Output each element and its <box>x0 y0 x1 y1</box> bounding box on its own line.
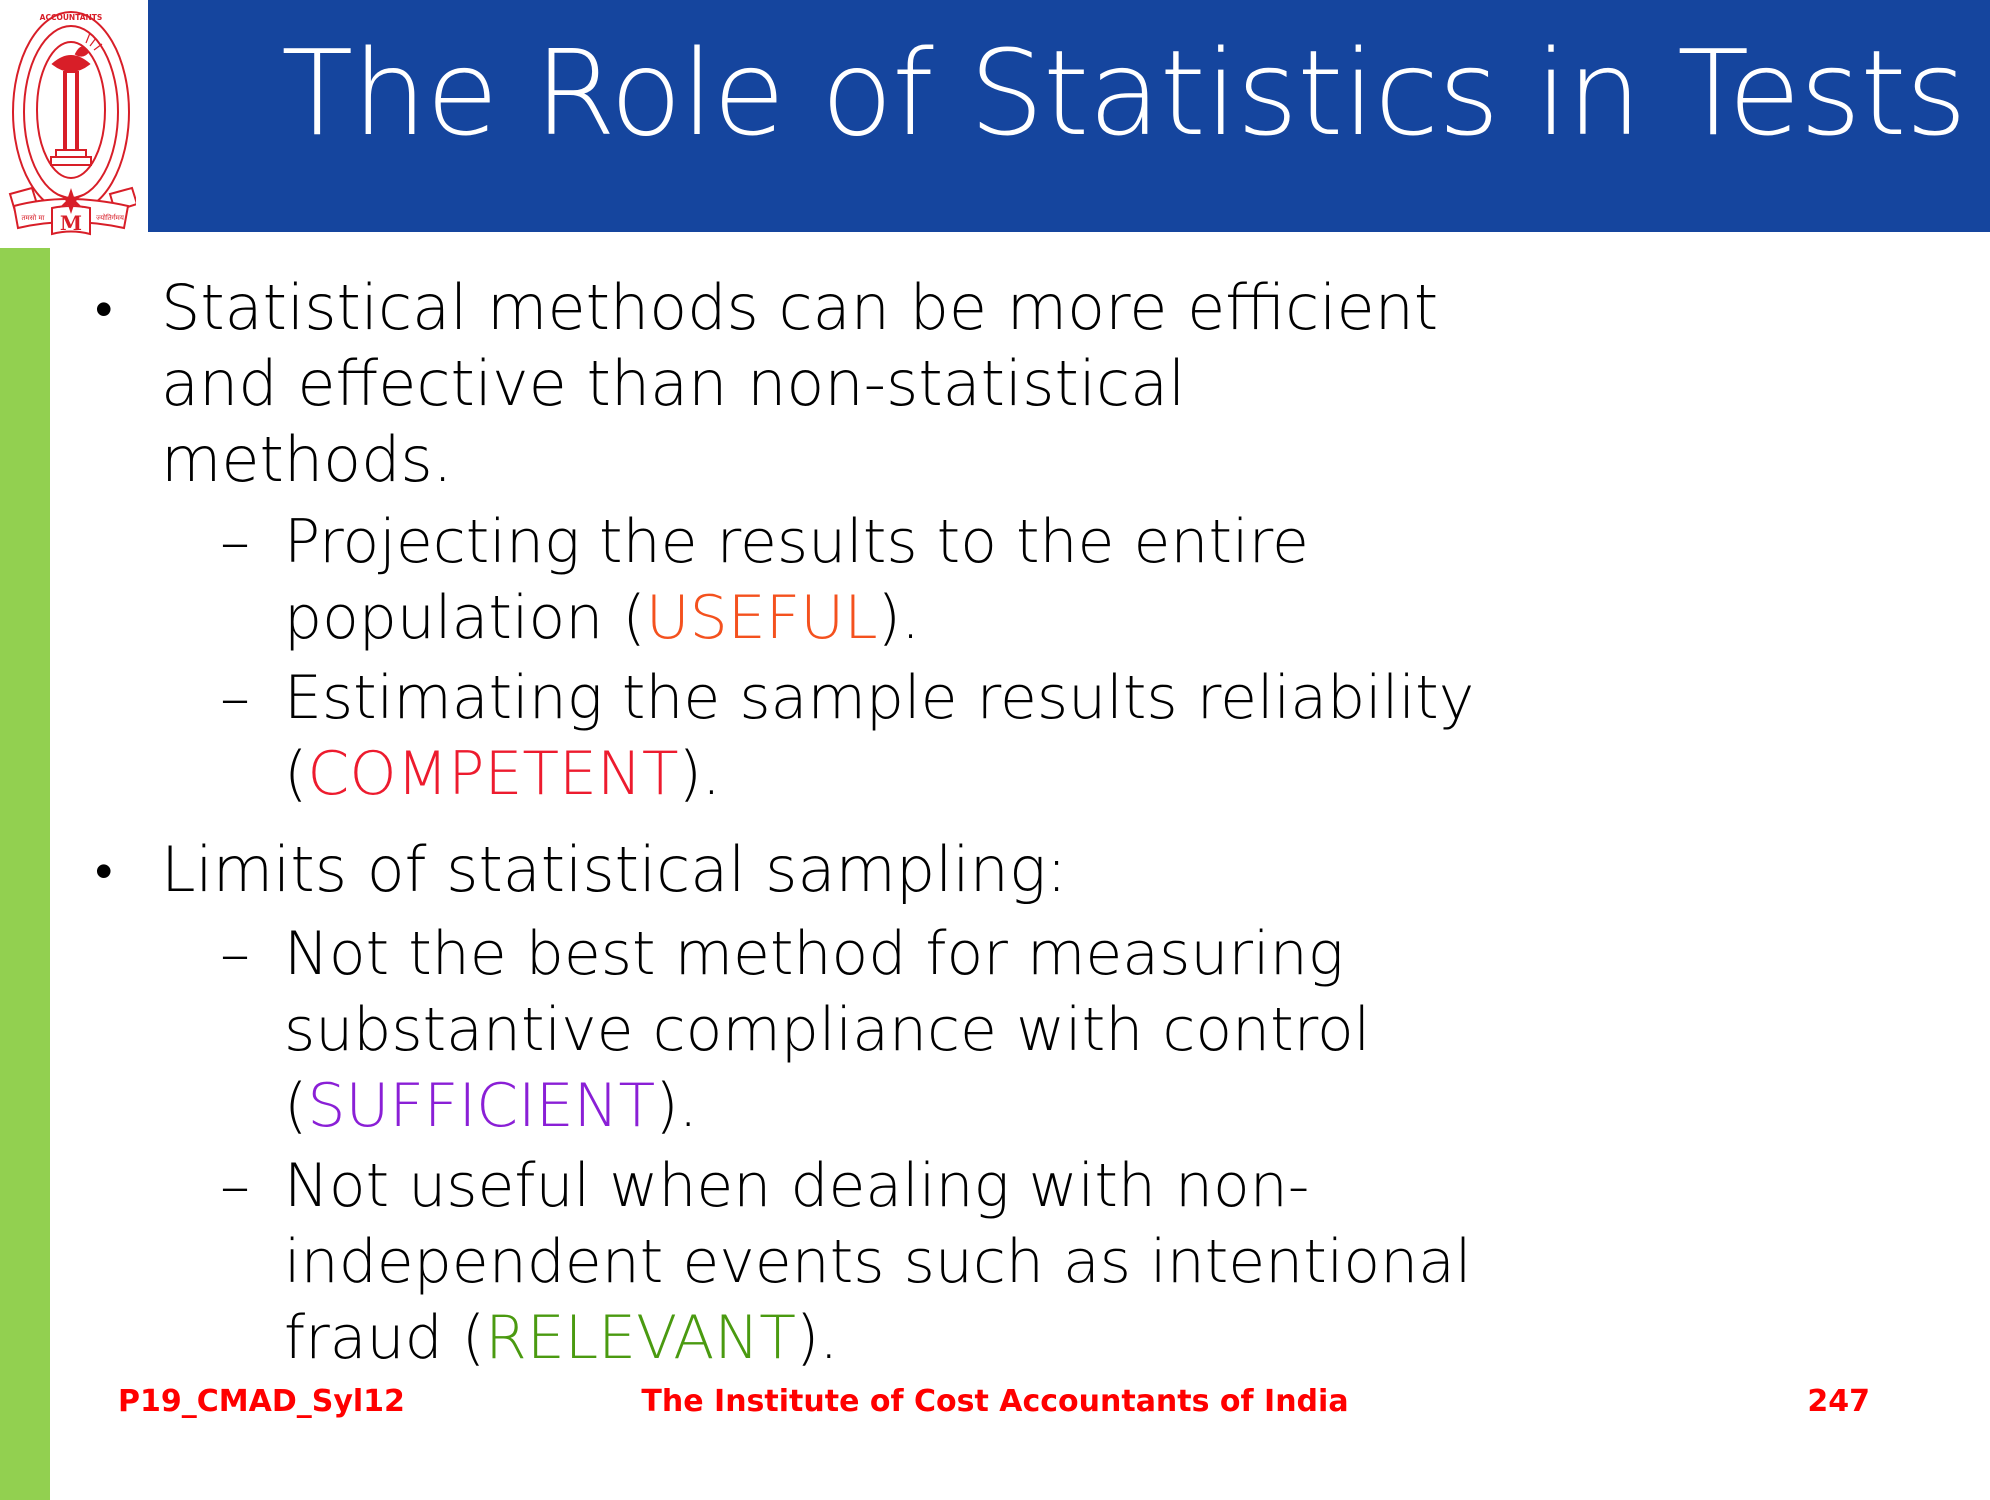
institute-logo-icon: ACCOUNTANTS THE INSTITUTE OF COST M तमसो… <box>6 2 136 242</box>
svg-text:ज्योतिर्गमय: ज्योतिर्गमय <box>96 213 125 222</box>
sub-bullet-1-1: – Projecting the results to the entire p… <box>220 504 1885 656</box>
dash-icon: – <box>220 504 284 580</box>
sub-bullet-2-2: – Not useful when dealing with non-indep… <box>220 1148 1885 1376</box>
keyword-competent: COMPETENT <box>307 739 678 809</box>
footer-institute-name: The Institute of Cost Accountants of Ind… <box>0 1384 1990 1419</box>
sub-bullet-2-1: – Not the best method for measuring subs… <box>220 916 1885 1144</box>
keyword-relevant: RELEVANT <box>485 1303 796 1373</box>
sub-bullet-2-2-text: Not useful when dealing with non-indepen… <box>284 1148 1604 1376</box>
bullet-item-2: • Limits of statistical sampling: <box>95 832 1885 910</box>
page-title: The Role of Statistics in Tests <box>148 18 1966 168</box>
sub-bullet-1-2: – Estimating the sample results reliabil… <box>220 660 1885 812</box>
sub-bullet-1-2-text: Estimating the sample results reliabilit… <box>284 660 1604 812</box>
sub-bullet-2-2-post: ). <box>796 1303 838 1373</box>
dash-icon: – <box>220 1148 284 1224</box>
keyword-useful: USEFUL <box>646 583 878 653</box>
svg-text:तमसो मा: तमसो मा <box>22 213 45 222</box>
bullet-icon: • <box>95 832 161 910</box>
slide: The Role of Statistics in Tests <box>0 0 1990 1500</box>
sub-bullet-1-1-text: Projecting the results to the entire pop… <box>284 504 1604 656</box>
footer: P19_CMAD_Syl12 The Institute of Cost Acc… <box>0 1384 1990 1444</box>
dash-icon: – <box>220 916 284 992</box>
footer-page-number: 247 <box>1807 1384 1870 1419</box>
keyword-sufficient: SUFFICIENT <box>307 1071 655 1141</box>
title-bar: The Role of Statistics in Tests <box>148 0 1990 232</box>
sub-bullet-1-1-post: ). <box>878 583 920 653</box>
bullet-item-1-text: Statistical methods can be more efficien… <box>161 270 1451 498</box>
bullet-icon: • <box>95 270 161 348</box>
body-content: • Statistical methods can be more effici… <box>95 270 1885 1380</box>
svg-text:M: M <box>60 211 82 235</box>
sub-bullet-2-2-pre: Not useful when dealing with non-indepen… <box>284 1151 1472 1373</box>
bullet-item-1: • Statistical methods can be more effici… <box>95 270 1885 498</box>
sub-bullet-2-1-text: Not the best method for measuring substa… <box>284 916 1604 1144</box>
dash-icon: – <box>220 660 284 736</box>
sub-bullet-1-2-post: ). <box>679 739 721 809</box>
left-accent-bar <box>0 248 50 1500</box>
bullet-item-2-text: Limits of statistical sampling: <box>161 832 1451 908</box>
svg-text:ACCOUNTANTS: ACCOUNTANTS <box>40 13 103 22</box>
sub-bullet-2-1-post: ). <box>655 1071 697 1141</box>
